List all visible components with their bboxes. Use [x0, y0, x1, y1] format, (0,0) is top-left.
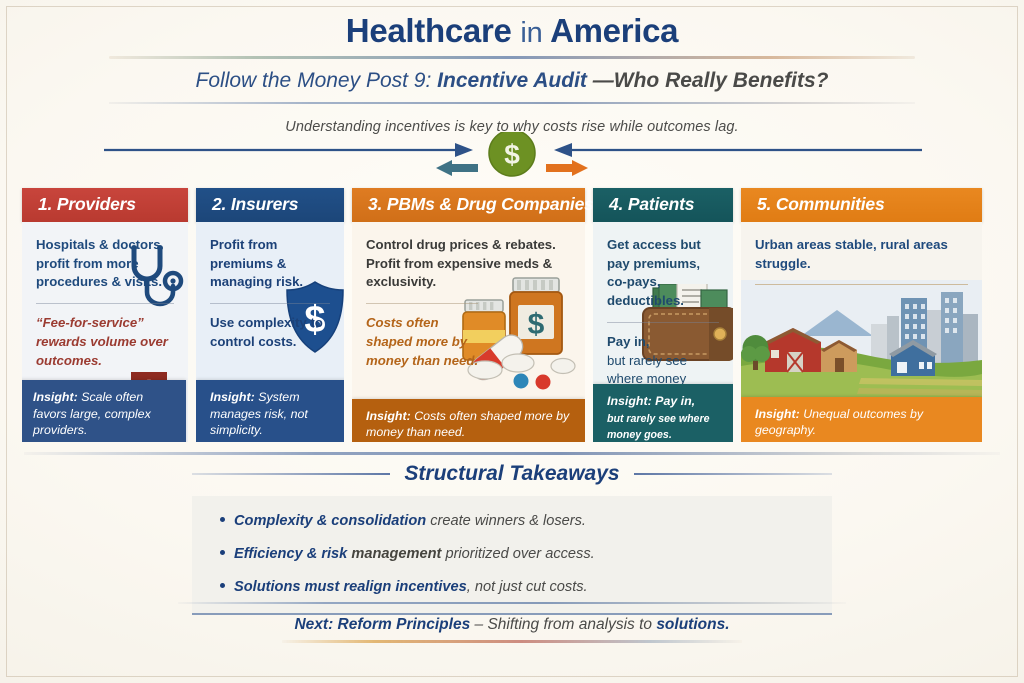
takeaway-item: Solutions must realign incentives, not j… [220, 578, 810, 597]
column-header-patients: 4. Patients [593, 188, 733, 222]
insight-label: Insight: [210, 390, 255, 404]
column-body-pbms: $ [352, 222, 585, 442]
takeaway-bold: Complexity & consolidation [234, 513, 426, 529]
footer-next-label: Next: Reform Principles [294, 616, 470, 633]
column-communities[interactable]: 5. Communities Urban areas stable, rural… [741, 188, 982, 442]
takeaways-list: Complexity & consolidation create winner… [192, 496, 832, 615]
column-divider [607, 322, 719, 323]
insight-box-pbms: Insight: Costs often shaped more by mone… [352, 399, 585, 442]
column-divider [366, 303, 478, 304]
column-body-text-pbms: Control drug prices & rebates. Profit fr… [366, 236, 573, 292]
section-divider-bottom [178, 602, 846, 604]
footer-dash: – [475, 616, 484, 633]
svg-text:$: $ [528, 308, 545, 341]
takeaway-text: Solutions must realign incentives, not j… [234, 578, 588, 597]
accent-line-1: Pay in, [607, 333, 721, 352]
column-divider [755, 284, 968, 285]
column-body-communities: Urban areas stable, rural areas struggle… [741, 222, 982, 442]
footer-text: Next: Reform Principles – Shifting from … [0, 616, 1024, 634]
subtitle-topic: Incentive Audit [437, 69, 587, 92]
column-header-communities: 5. Communities [741, 188, 982, 222]
takeaway-mid: management [351, 546, 441, 562]
insight-text: but rarely see where money goes. [607, 413, 709, 442]
infographic-page: Healthcare in America Follow the Money P… [0, 0, 1024, 683]
section-divider-top [24, 452, 1000, 455]
takeaway-rest: prioritized over access. [445, 546, 594, 562]
column-accent-text-insurers: Use complexity to control costs. [210, 314, 332, 351]
title-rule [109, 56, 915, 59]
subtitle-colon: : [425, 69, 431, 92]
subtitle: Follow the Money Post 9: Incentive Audit… [0, 68, 1024, 94]
column-header-pbms: 3. PBMs & Drug Companies [352, 188, 585, 222]
takeaways-rule-right [634, 473, 832, 475]
column-header-insurers: 2. Insurers [196, 188, 344, 222]
stakeholder-columns: 1. Providers [22, 188, 1006, 442]
arrow-in-right-icon [554, 143, 572, 157]
column-body-text-patients: Get access but pay premiums, co-pays, de… [607, 236, 721, 311]
takeaway-item: Complexity & consolidation create winner… [220, 512, 810, 531]
structural-takeaways-section: Structural Takeaways Complexity & consol… [192, 462, 832, 615]
rural-urban-landscape-icon [741, 280, 982, 398]
subtitle-rule [109, 102, 915, 104]
page-title: Healthcare in America [0, 8, 1024, 50]
column-providers[interactable]: 1. Providers [22, 188, 188, 442]
dollar-sign-icon: $ [504, 139, 520, 170]
column-body-text-providers: Hospitals & doctors profit from more pro… [36, 236, 176, 292]
subtitle-dash: — [593, 69, 614, 92]
insight-label: Insight: Pay in, [607, 394, 695, 408]
column-pbms-drug-companies[interactable]: 3. PBMs & Drug Companies $ [352, 188, 585, 442]
column-header-providers: 1. Providers [22, 188, 188, 222]
column-body-insurers: $ Profit from premiums & managing risk. … [196, 222, 344, 442]
column-accent-text-pbms: Costs often shaped more by money than ne… [366, 314, 486, 370]
insight-box-providers: Insight: Scale often favors large, compl… [22, 380, 186, 442]
title-part-in: in [520, 17, 542, 49]
footer-solutions: solutions. [656, 616, 729, 633]
insight-label: Insight: [366, 409, 411, 423]
footer-rest: Shifting from analysis to [487, 616, 652, 633]
takeaway-text: Complexity & consolidation create winner… [234, 512, 586, 531]
footer-rule [282, 640, 742, 643]
column-patients[interactable]: 4. Patients Get access bu [593, 188, 733, 442]
subtitle-question: Who Really Benefits? [614, 69, 829, 92]
column-body-patients: Get access but pay premiums, co-pays, de… [593, 222, 733, 442]
insight-box-communities: Insight: Unequal outcomes by geography. [741, 397, 982, 442]
arrow-in-left-icon [455, 143, 473, 157]
insight-label: Insight: [755, 407, 800, 421]
takeaway-rest: , not just cut costs. [467, 579, 588, 595]
bullet-icon [220, 583, 225, 588]
bullet-icon [220, 550, 225, 555]
header: Healthcare in America Follow the Money P… [0, 8, 1024, 135]
column-body-text-communities: Urban areas stable, rural areas struggle… [755, 236, 970, 273]
column-body-text-insurers: Profit from premiums & managing risk. [210, 236, 332, 292]
column-divider [36, 303, 174, 304]
column-divider [210, 303, 330, 304]
takeaways-title: Structural Takeaways [404, 462, 619, 486]
subtitle-series: Follow the Money Post 9 [196, 69, 426, 92]
takeaway-rest: create winners & losers. [430, 513, 586, 529]
column-insurers[interactable]: 2. Insurers $ Profit from premiums & man… [196, 188, 344, 442]
arrow-out-right-icon [546, 160, 588, 176]
bullet-icon [220, 517, 225, 522]
title-part-healthcare: Healthcare [346, 12, 512, 49]
footer: Next: Reform Principles – Shifting from … [0, 616, 1024, 643]
insight-box-insurers: Insight: System manages risk, not simpli… [196, 380, 344, 442]
insight-label: Insight: [33, 390, 78, 404]
arrow-out-left-icon [436, 160, 478, 176]
flow-svg: $ [0, 132, 1024, 180]
money-flow-diagram: $ [0, 132, 1024, 180]
takeaway-item: Efficiency & risk management prioritized… [220, 545, 810, 564]
column-accent-text-providers: “Fee-for-service” rewards volume over ou… [36, 314, 176, 370]
column-body-providers: Hospitals & doctors profit from more pro… [22, 222, 188, 442]
insight-box-patients: Insight: Pay in, but rarely see where mo… [593, 384, 733, 442]
takeaway-text: Efficiency & risk management prioritized… [234, 545, 595, 564]
takeaway-bold: Efficiency & risk [234, 546, 347, 562]
title-part-america: America [550, 12, 678, 49]
takeaway-bold: Solutions must realign incentives [234, 579, 467, 595]
takeaways-header: Structural Takeaways [192, 462, 832, 486]
takeaways-rule-left [192, 473, 390, 475]
